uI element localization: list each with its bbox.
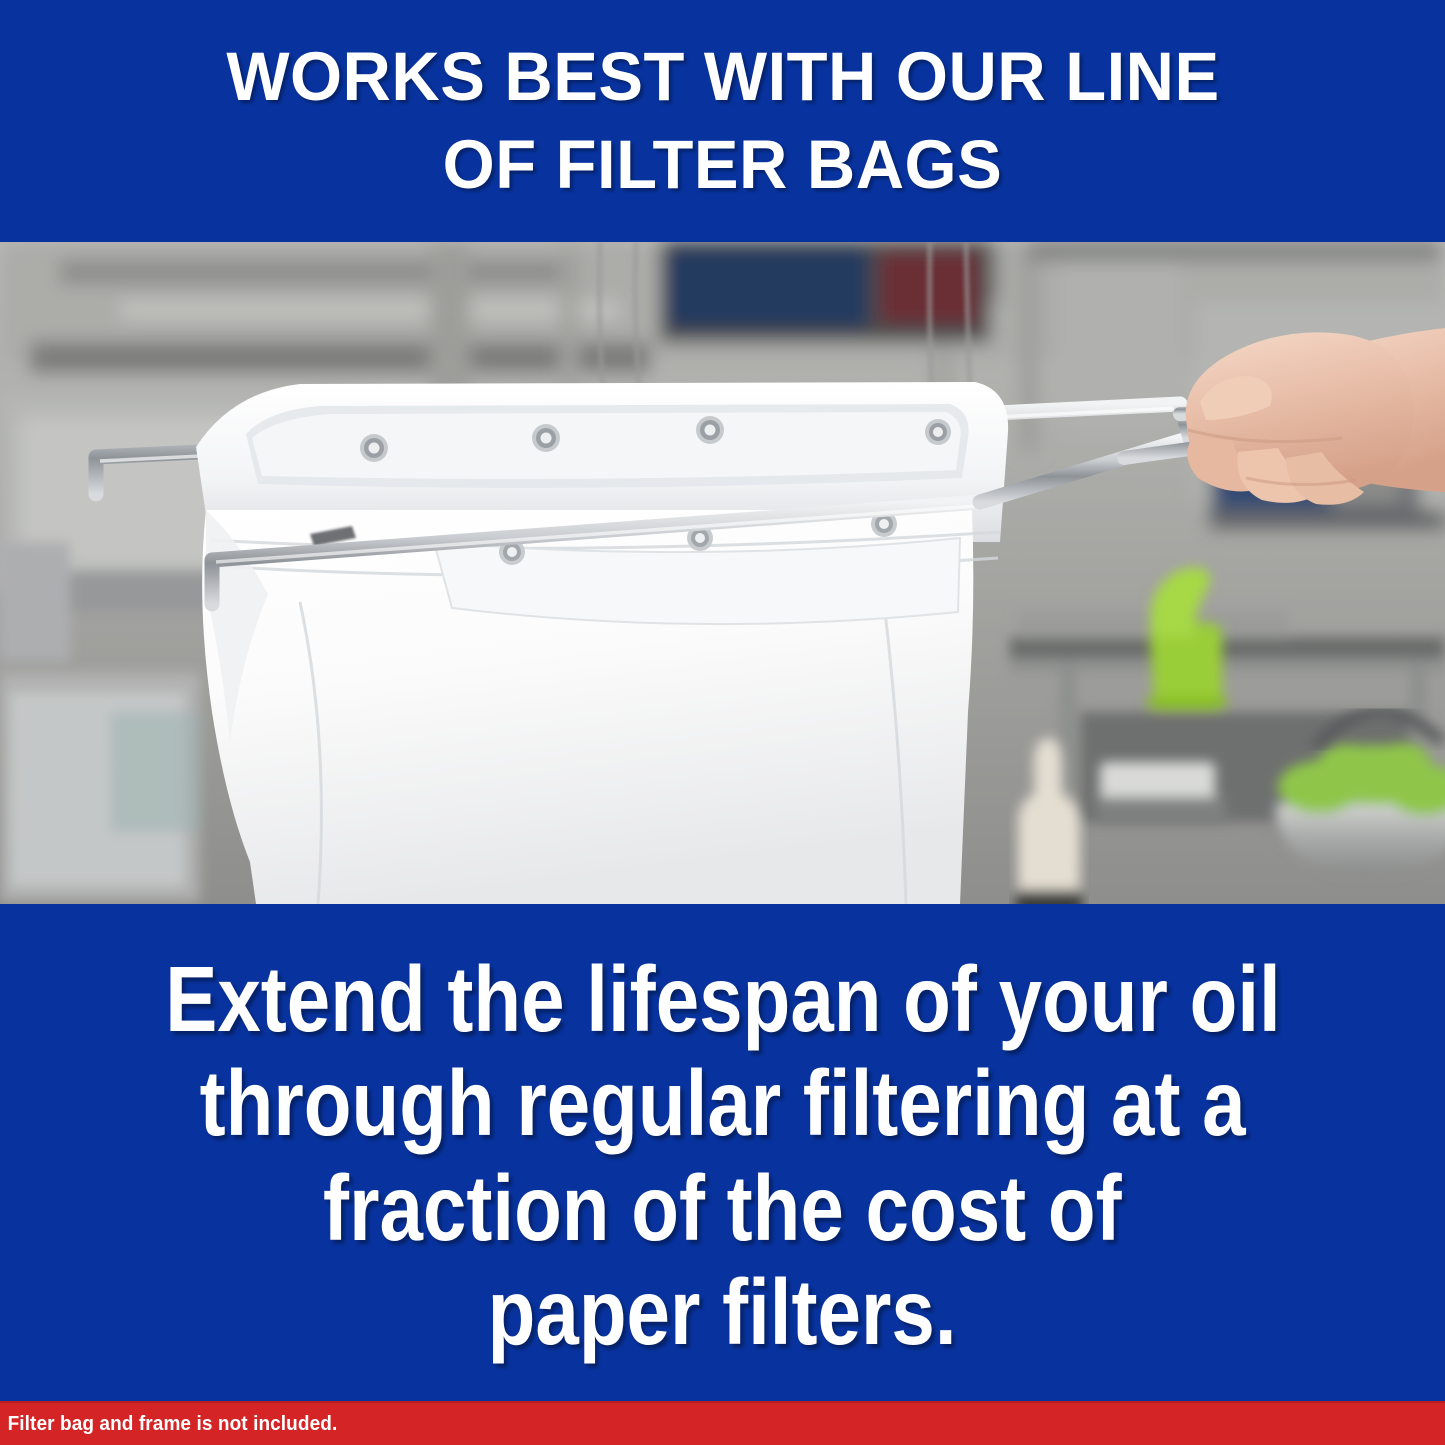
message-line-4: paper filters. (488, 1260, 957, 1364)
product-marketing-poster: WORKS BEST WITH OUR LINE OF FILTER BAGS (0, 0, 1445, 1445)
headline-line-2: OF FILTER BAGS (443, 121, 1003, 209)
message-line-2: through regular filtering at a (199, 1051, 1245, 1155)
headline-banner: WORKS BEST WITH OUR LINE OF FILTER BAGS (0, 0, 1445, 242)
product-photo (0, 242, 1445, 904)
headline-line-1: WORKS BEST WITH OUR LINE (226, 33, 1219, 121)
message-panel: Extend the lifespan of your oil through … (0, 904, 1445, 1401)
disclaimer-text: Filter bag and frame is not included. (0, 1413, 337, 1436)
message-line-3: fraction of the cost of (323, 1156, 1122, 1260)
message-line-1: Extend the lifespan of your oil (165, 947, 1281, 1051)
left-glass-cabinet (0, 672, 200, 902)
filter-bag (196, 382, 1008, 904)
product-photo-illustration (0, 242, 1445, 904)
disclaimer-footer: Filter bag and frame is not included. (0, 1401, 1445, 1445)
